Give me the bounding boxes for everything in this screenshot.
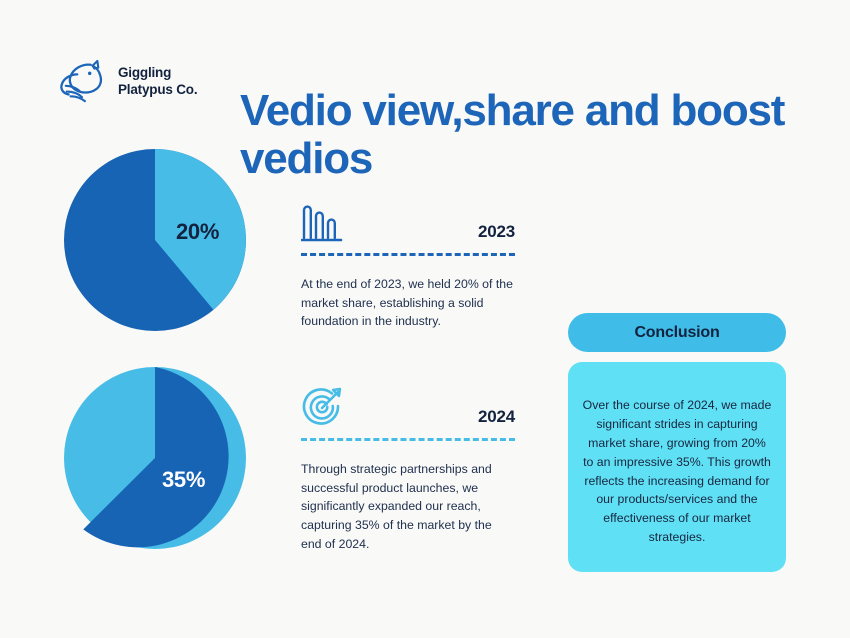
conclusion-text: Over the course of 2024, we made signifi… xyxy=(582,396,772,547)
pie-2024-value: 35% xyxy=(162,467,205,493)
year-block-2023: 2023 At the end of 2023, we held 20% of … xyxy=(301,196,515,343)
divider-2023 xyxy=(301,253,515,256)
year-header-2023: 2023 xyxy=(301,196,515,244)
year-header-2024: 2024 xyxy=(301,381,515,429)
pie-chart-2023: 20% xyxy=(64,149,246,331)
brand-lockup: Giggling Platypus Co. xyxy=(58,60,197,104)
pie-chart-2024: 35% xyxy=(64,367,246,549)
conclusion-heading: Conclusion xyxy=(568,313,786,352)
bar-chart-icon xyxy=(301,200,347,244)
target-arrow-icon xyxy=(301,385,347,429)
platypus-logo-icon xyxy=(58,60,108,104)
page-title: Vedio view,share and boost vedios xyxy=(240,87,850,182)
year-block-2024: 2024 Through strategic partnerships and … xyxy=(301,381,515,566)
pie-2023-value: 20% xyxy=(176,219,219,245)
year-label-2024: 2024 xyxy=(478,407,515,429)
year-text-2024: Through strategic partnerships and succe… xyxy=(301,460,515,553)
year-label-2023: 2023 xyxy=(478,222,515,244)
divider-2024 xyxy=(301,438,515,441)
conclusion-card: Over the course of 2024, we made signifi… xyxy=(568,362,786,572)
infographic-canvas: Giggling Platypus Co. Vedio view,share a… xyxy=(0,0,850,638)
brand-name: Giggling Platypus Co. xyxy=(118,65,197,99)
year-text-2023: At the end of 2023, we held 20% of the m… xyxy=(301,275,515,331)
